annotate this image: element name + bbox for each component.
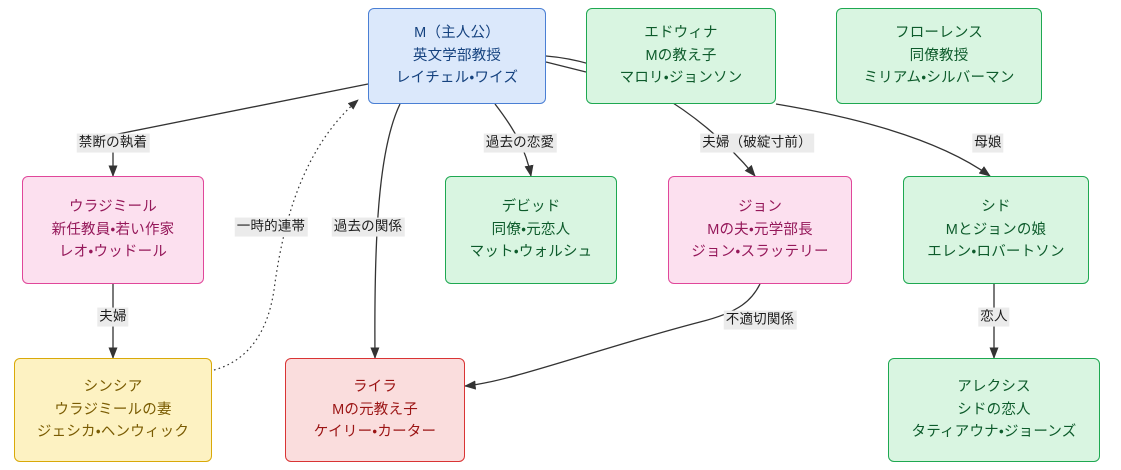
character-node-alexis[interactable]: アレクシスシドの恋人タティアウナ・ジョーンズ [888, 358, 1100, 462]
node-m-actor: レイチェル・ワイズ [396, 67, 518, 89]
node-lyla-actor: ケイリー・カーター [314, 421, 436, 443]
character-node-vladimir[interactable]: ウラジミール新任教員・若い作家レオ・ウッドール [22, 176, 204, 284]
node-cynthia-actor: ジェシカ・ヘンウィック [37, 421, 189, 443]
edge-john-to-lyla [465, 284, 760, 386]
edge-label-m-john: 夫婦（破綻寸前） [700, 134, 814, 153]
edge-label-vladimir-cynthia: 夫婦 [97, 308, 128, 327]
relationship-diagram-canvas: M（主人公）英文学部教授レイチェル・ワイズエドウィナMの教え子マロリ・ジョンソン… [0, 0, 1121, 470]
edge-label-m-sid: 母娘 [972, 134, 1003, 153]
node-sid-name: シド [981, 196, 1010, 218]
character-node-m[interactable]: M（主人公）英文学部教授レイチェル・ワイズ [368, 8, 546, 104]
edge-label-m-david: 過去の恋愛 [484, 134, 557, 153]
node-david-actor: マット・ウォルシュ [470, 241, 593, 263]
node-david-role: 同僚・元恋人 [492, 219, 571, 241]
node-cynthia-role: ウラジミールの妻 [54, 399, 171, 421]
node-david-name: デビッド [502, 196, 561, 218]
node-vladimir-name: ウラジミール [69, 196, 157, 218]
character-node-john[interactable]: ジョンMの夫・元学部長ジョン・スラッテリー [668, 176, 852, 284]
node-florence-role: 同僚教授 [910, 45, 969, 67]
node-lyla-role: Mの元教え子 [332, 399, 418, 421]
node-lyla-name: ライラ [353, 376, 397, 398]
node-john-name: ジョン [738, 196, 782, 218]
node-vladimir-actor: レオ・ウッドール [59, 241, 167, 263]
node-alexis-role: シドの恋人 [957, 399, 1031, 421]
node-alexis-name: アレクシス [957, 376, 1031, 398]
edge-label-m-vladimir: 禁断の執着 [77, 134, 150, 153]
edge-edwina-to-m [546, 62, 586, 72]
node-florence-actor: ミリアム・シルバーマン [863, 67, 1014, 89]
node-sid-role: Mとジョンの娘 [946, 219, 1046, 241]
node-edwina-role: Mの教え子 [645, 45, 716, 67]
character-node-david[interactable]: デビッド同僚・元恋人マット・ウォルシュ [445, 176, 617, 284]
node-alexis-actor: タティアウナ・ジョーンズ [912, 421, 1077, 443]
node-m-role: 英文学部教授 [413, 45, 501, 67]
node-vladimir-role: 新任教員・若い作家 [52, 219, 175, 241]
character-node-florence[interactable]: フローレンス同僚教授ミリアム・シルバーマン [836, 8, 1042, 104]
character-node-cynthia[interactable]: シンシアウラジミールの妻ジェシカ・ヘンウィック [14, 358, 212, 462]
node-sid-actor: エレン・ロバートソン [927, 241, 1064, 263]
node-edwina-actor: マロリ・ジョンソン [620, 67, 743, 89]
edge-label-sid-alexis: 恋人 [978, 308, 1009, 327]
node-florence-name: フローレンス [895, 22, 983, 44]
node-cynthia-name: シンシア [84, 376, 143, 398]
node-john-actor: ジョン・スラッテリー [691, 241, 828, 263]
node-edwina-name: エドウィナ [644, 22, 718, 44]
edge-label-john-lyla: 不適切関係 [724, 311, 797, 330]
character-node-lyla[interactable]: ライラMの元教え子ケイリー・カーター [285, 358, 465, 462]
node-m-name: M（主人公） [414, 22, 500, 44]
character-node-sid[interactable]: シドMとジョンの娘エレン・ロバートソン [903, 176, 1089, 284]
edge-label-cynthia-m: 一時的連帯 [235, 218, 308, 237]
node-john-role: Mの夫・元学部長 [707, 219, 813, 241]
edge-label-m-lyla: 過去の関係 [332, 218, 405, 237]
edge-m-to-vladimir [113, 84, 368, 176]
character-node-edwina[interactable]: エドウィナMの教え子マロリ・ジョンソン [586, 8, 776, 104]
